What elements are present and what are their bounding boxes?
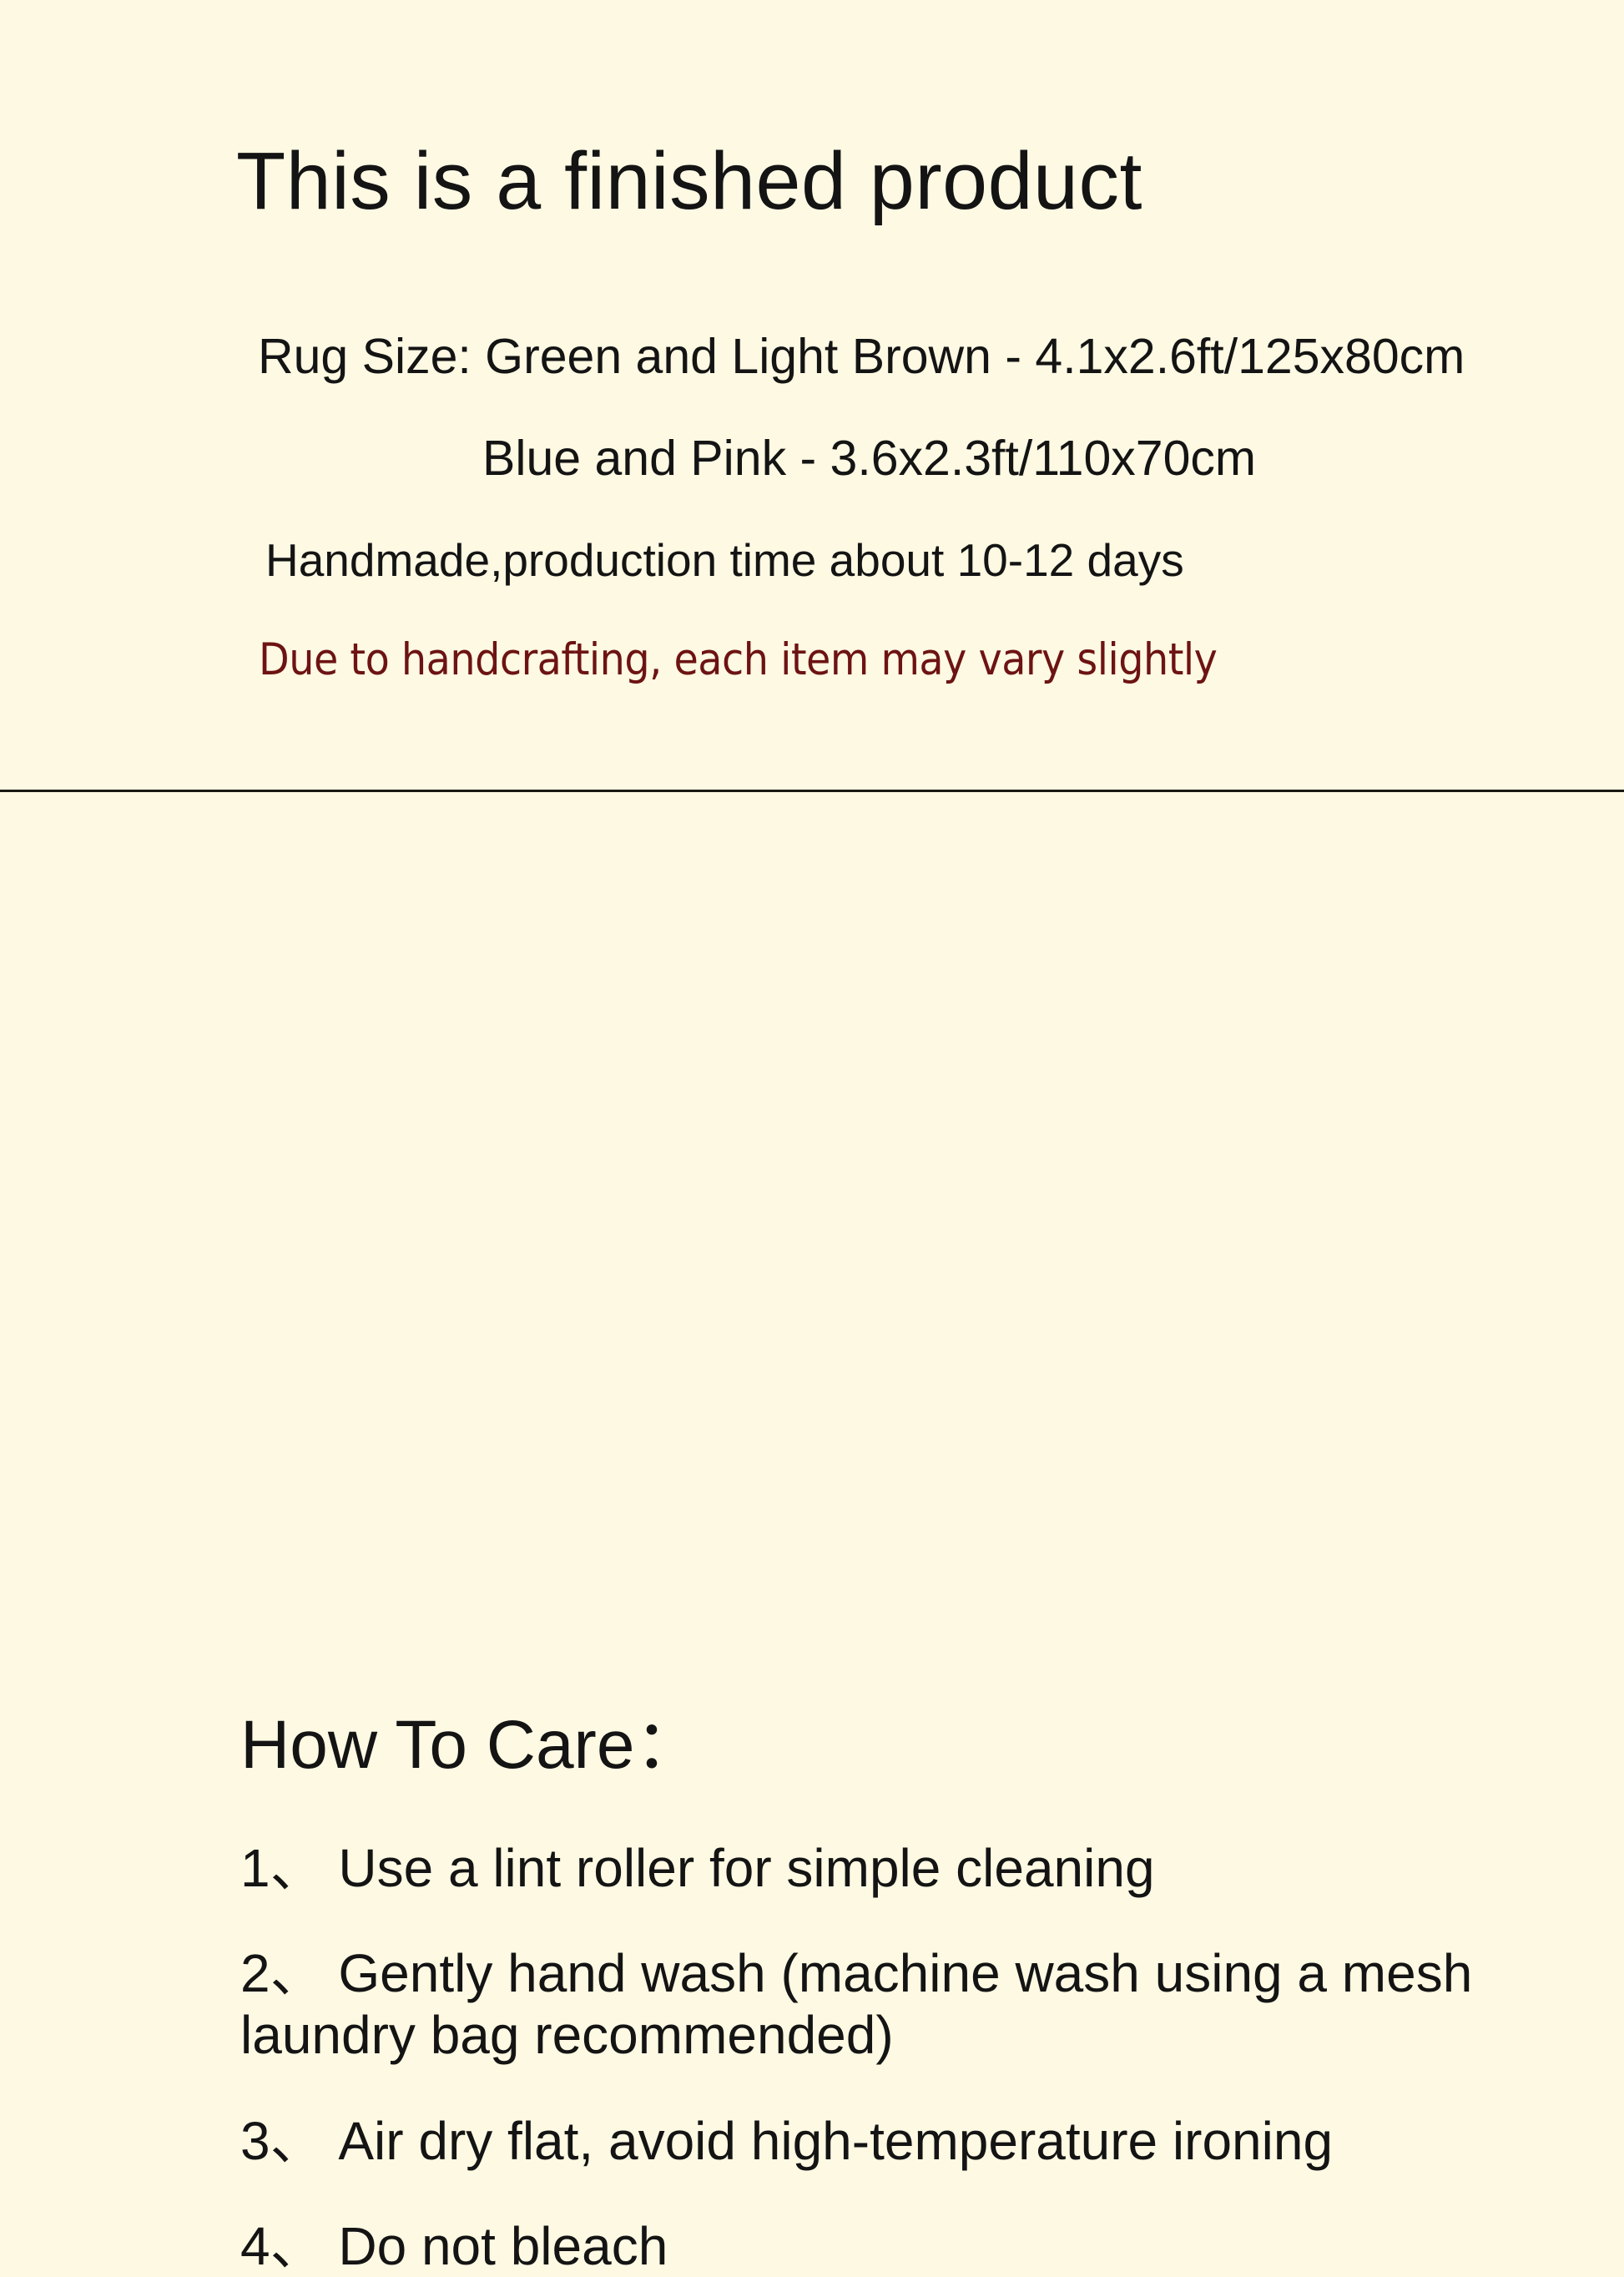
- handcrafting-variation-note: Due to handcrafting, each item may vary …: [259, 638, 1217, 682]
- care-instruction-list: 1、 Use a lint roller for simple cleaning…: [240, 1837, 1542, 2277]
- care-list-item-4: 4、 Do not bleach: [240, 2215, 1542, 2277]
- handmade-production-time: Handmade,production time about 10-12 day…: [265, 538, 1184, 583]
- how-to-care-section: How To Care： 1、 Use a lint roller for si…: [0, 792, 1624, 1624]
- care-list-item-2: 2、 Gently hand wash (machine wash using …: [240, 1942, 1526, 2066]
- how-to-care-heading: How To Care：: [240, 1711, 703, 1780]
- care-list-item-1: 1、 Use a lint roller for simple cleaning: [240, 1837, 1542, 1899]
- rug-size-line-blue-pink: Blue and Pink - 3.6x2.3ft/110x70cm: [482, 434, 1256, 483]
- page-title: This is a finished product: [236, 140, 1142, 221]
- product-info-section: This is a finished product Rug Size: Gre…: [0, 0, 1624, 791]
- rug-size-line-green-light-brown: Rug Size: Green and Light Brown - 4.1x2.…: [258, 332, 1465, 381]
- product-care-page: This is a finished product Rug Size: Gre…: [0, 0, 1624, 1624]
- care-list-item-3: 3、 Air dry flat, avoid high-temperature …: [240, 2110, 1542, 2172]
